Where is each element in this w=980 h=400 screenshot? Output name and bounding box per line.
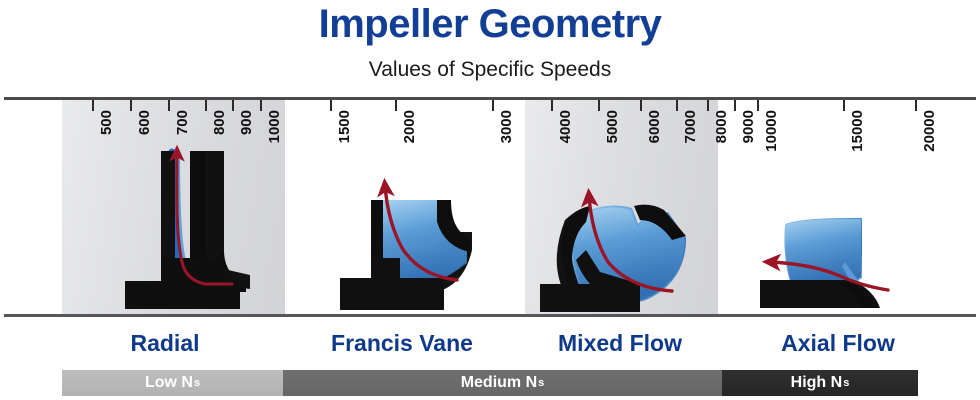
axis-tick-label: 15000 [849, 110, 866, 152]
axis-tick-label: 9000 [740, 110, 757, 143]
ns-band-low-subscript: s [194, 377, 200, 389]
axis-tick [330, 100, 332, 111]
page-title: Impeller Geometry [0, 2, 980, 47]
ns-band-low: Low Ns [62, 370, 283, 396]
axis-tick-label: 6000 [646, 110, 663, 143]
axis-tick [676, 100, 678, 111]
axis-tick [640, 100, 642, 111]
axis-tick [395, 100, 397, 111]
axis-tick [757, 100, 759, 111]
axis-tick [232, 100, 234, 111]
axis-tick-label: 600 [136, 110, 153, 135]
axis-tick-label: 2000 [401, 110, 418, 143]
axis-tick-label: 1500 [336, 110, 353, 143]
axis-tick-label: 4000 [557, 110, 574, 143]
category-label-francis-vane: Francis Vane [292, 330, 512, 357]
impeller-geometry-figure: Impeller Geometry Values of Specific Spe… [0, 0, 980, 400]
axis-tick-label: 20000 [921, 110, 938, 152]
ns-band-low-text: Low N [145, 374, 193, 392]
axis-tick-label: 10000 [763, 110, 780, 152]
ns-band-medium-subscript: s [538, 377, 544, 389]
category-label-axial-flow: Axial Flow [728, 330, 948, 357]
axis-tick-label: 8000 [713, 110, 730, 143]
category-label-mixed-flow: Mixed Flow [510, 330, 730, 357]
axis-tick [260, 100, 262, 111]
axis-tick-label: 7000 [682, 110, 699, 143]
axis-tick [168, 100, 170, 111]
axis-tick-label: 1000 [266, 110, 283, 143]
axis-tick [915, 100, 917, 111]
axis-tick [598, 100, 600, 111]
axis-tick-label: 5000 [604, 110, 621, 143]
category-label-radial: Radial [65, 330, 265, 357]
axis-tick-label: 3000 [498, 110, 515, 143]
axis-tick [205, 100, 207, 111]
impeller-francis-vane [340, 186, 472, 310]
ns-band-high: High Ns [722, 370, 918, 396]
axis-bottom-rule [4, 314, 976, 317]
page-subtitle: Values of Specific Speeds [0, 58, 980, 82]
axis-tick [130, 100, 132, 111]
ns-band-medium: Medium Ns [283, 370, 722, 396]
axis-tick-label: 700 [174, 110, 191, 135]
axis-tick [551, 100, 553, 111]
ns-band-medium-text: Medium N [461, 374, 537, 392]
axis-tick-label: 900 [238, 110, 255, 135]
axis-tick-label: 500 [98, 110, 115, 135]
axis-tick [734, 100, 736, 111]
impeller-axial-flow [760, 218, 888, 308]
axis-tick [707, 100, 709, 111]
axis-tick-label: 800 [211, 110, 228, 135]
axis-tick [92, 100, 94, 111]
axis-tick [843, 100, 845, 111]
axis-tick [492, 100, 494, 111]
ns-band-high-text: High N [791, 374, 843, 392]
ns-band-high-subscript: s [843, 377, 849, 389]
